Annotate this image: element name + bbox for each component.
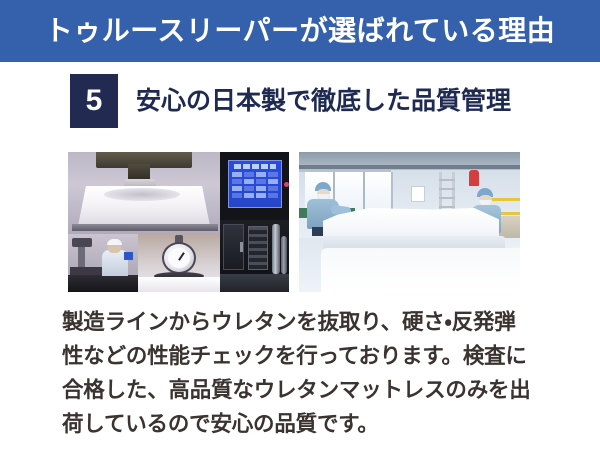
test-cylinder [281,236,287,274]
screen-cell [268,186,278,191]
photo-row [68,152,520,292]
section-title: 安心の日本製で徹底した品質管理 [136,89,511,114]
screen-cell [268,179,278,184]
screen-cell [232,179,242,184]
screen-cell [268,172,278,177]
ceiling-beam [299,165,520,169]
body-line: 荷しているので安心の品質です。 [62,408,532,442]
lab-bench [68,275,138,292]
header-title: トゥルースリーパーが選ばれている理由 [45,17,555,45]
factory-mattress-assembly-photo [299,152,520,292]
foam-compression-dimple [104,188,180,201]
touchscreen-display [228,160,282,208]
compression-tester-panel [68,152,220,234]
cabinet-handle [240,242,243,252]
technician-workstation-panel [68,234,138,292]
control-panel-screen [220,152,289,220]
foreground-mattress-surface [321,248,520,292]
advertisement-page: トゥルースリーパーが選ばれている理由 5 安心の日本製で徹底した品質管理 [0,0,600,450]
panel-indicator-light [284,182,289,187]
foreground-edge [299,238,323,292]
machine-base-plate [72,224,218,231]
test-cylinder [272,224,280,274]
screen-cell [244,186,254,191]
screen-cell [256,172,266,177]
section-number-badge: 5 [70,74,118,128]
screen-cell [256,193,266,198]
technician-cap [107,239,122,245]
screen-cell [232,186,242,191]
body-line: 性などの性能チェックを行っております。検査に [62,340,532,374]
screen-title-bar [234,164,276,169]
screen-cell [244,193,254,198]
screen-cell [244,172,254,177]
cabinet-floor [220,274,289,292]
body-line: 合格した、高品質なウレタンマットレスのみを出 [62,374,532,408]
section-heading: 5 安心の日本製で徹底した品質管理 [70,74,511,128]
body-line: 製造ラインからウレタンを抜取り、硬さ・反発弾 [62,306,532,340]
screen-cell [256,186,266,191]
technician-tablet [124,252,133,260]
microscope-head [72,238,92,247]
wall-panel [411,186,425,202]
screen-cell [232,172,242,177]
sample-rack [248,226,268,270]
screen-cell [244,179,254,184]
test-cabinet-panel [220,220,289,292]
quality-inspection-equipment-photo [68,152,289,292]
screen-button-grid [232,172,278,198]
screen-cell [256,179,266,184]
screen-cell [268,193,278,198]
header-banner: トゥルースリーパーが選ばれている理由 [0,0,600,62]
screen-cell [232,193,242,198]
hardness-gauge-panel [138,234,220,292]
factory-ceiling [299,152,520,172]
microscope-base [70,267,106,275]
red-equipment [469,170,479,186]
foam-test-pad [138,277,220,292]
body-paragraph: 製造ラインからウレタンを抜取り、硬さ・反発弾 性などの性能チェックを行っておりま… [62,306,532,442]
